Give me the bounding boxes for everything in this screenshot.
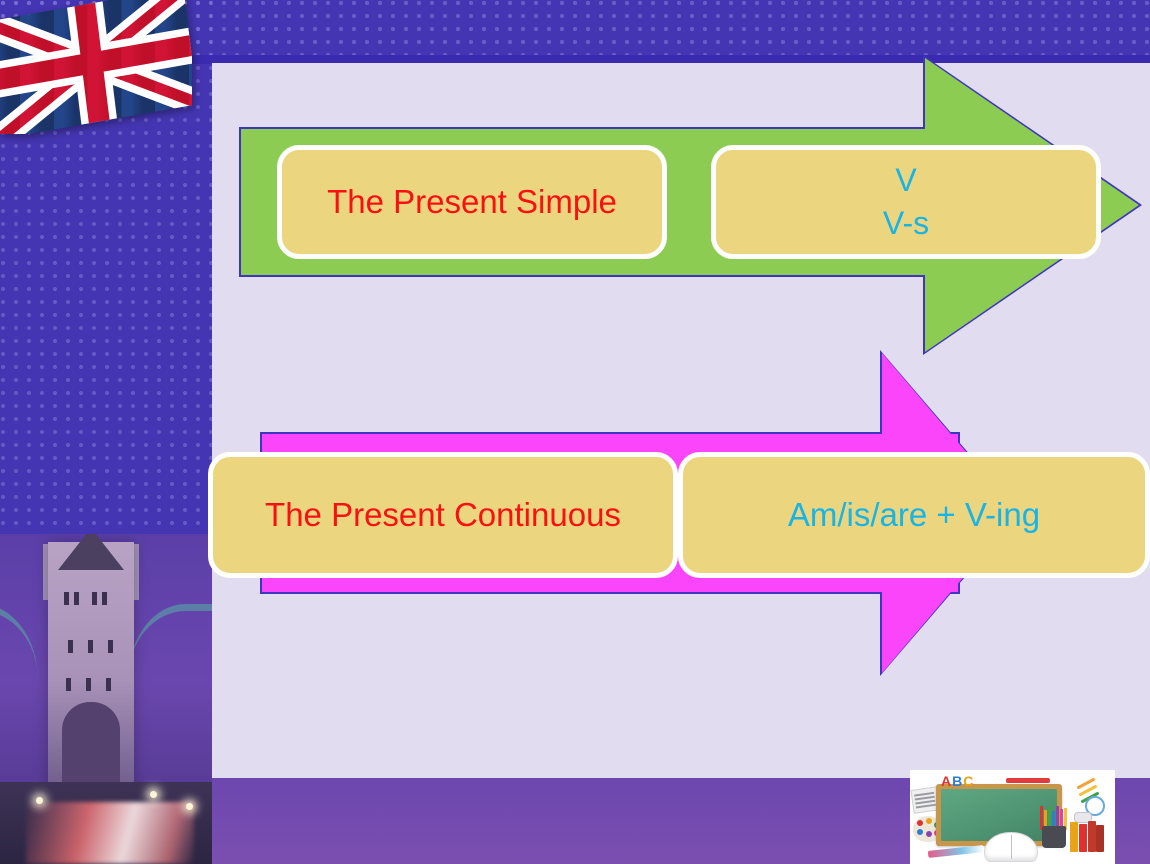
present-simple-name-box[interactable]: The Present Simple: [277, 145, 667, 259]
bridge-window: [102, 592, 107, 605]
bridge-window: [86, 678, 91, 691]
bridge-window: [106, 678, 111, 691]
bridge-window: [64, 592, 69, 605]
pencil-cup-icon: [1042, 826, 1066, 848]
present-simple-label: The Present Simple: [327, 183, 617, 222]
uk-flag-field: [0, 0, 192, 134]
ruler-icon: [928, 845, 984, 858]
bridge-archway: [62, 702, 120, 792]
present-continuous-form-line-1: Am/is/are + V-ing: [788, 496, 1040, 535]
bridge-window: [68, 640, 73, 653]
tower-bridge-image: [0, 534, 212, 864]
bridge-window: [92, 592, 97, 605]
bridge-lamp: [150, 791, 157, 798]
bridge-window: [66, 678, 71, 691]
present-continuous-form-box[interactable]: Am/is/are + V-ing: [678, 452, 1150, 578]
slide-canvas: The Present Simple V V-s The Present Con…: [0, 0, 1150, 864]
bridge-lamp: [186, 803, 193, 810]
bridge-window: [74, 592, 79, 605]
present-simple-form-line-2: V-s: [883, 202, 929, 245]
present-simple-form-line-1: V: [895, 159, 916, 202]
present-continuous-label: The Present Continuous: [265, 496, 621, 535]
bridge-light-trails: [26, 802, 194, 864]
bridge-window: [108, 640, 113, 653]
bridge-lamp: [36, 797, 43, 804]
red-pen-icon: [1006, 778, 1050, 783]
present-continuous-name-box[interactable]: The Present Continuous: [208, 452, 678, 578]
present-simple-form-box[interactable]: V V-s: [711, 145, 1101, 259]
flag-wave-shading: [0, 0, 192, 134]
book-stack-icon: [1070, 820, 1104, 852]
bridge-window: [88, 640, 93, 653]
uk-flag-icon: [0, 0, 192, 134]
school-supplies-clipart: ABC: [910, 770, 1115, 864]
abc-letters-icon: ABC: [941, 773, 974, 789]
bridge-roof: [58, 534, 124, 570]
